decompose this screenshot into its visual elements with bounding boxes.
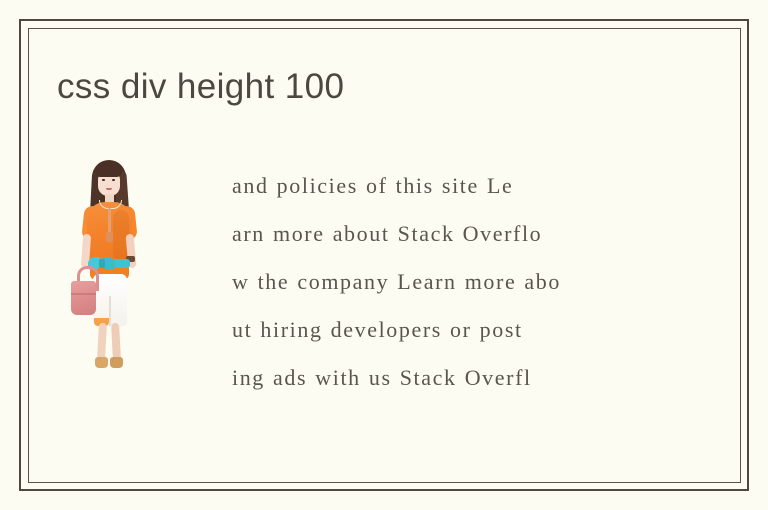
woman-figure-illustration (69, 158, 149, 373)
hair-fringe (96, 164, 122, 177)
body-text-line: ut hiring developers or post (232, 306, 657, 354)
right-wedge-sandal (110, 357, 123, 368)
body-text-line: arn more about Stack Overflo (232, 210, 657, 258)
page-canvas: css div height 100 (0, 0, 768, 510)
page-title: css div height 100 (57, 67, 344, 107)
body-text-line: ing ads with us Stack Overfl (232, 354, 657, 402)
right-eye (112, 179, 115, 181)
body-paragraph: and policies of this site Le arn more ab… (232, 162, 657, 402)
pink-handbag (71, 281, 96, 315)
body-text-line: and policies of this site Le (232, 162, 657, 210)
necklace-pendant (106, 232, 113, 242)
right-leg (111, 323, 121, 360)
body-text-line: w the company Learn more abo (232, 258, 657, 306)
handbag-seam (71, 293, 96, 295)
content-row: and policies of this site Le arn more ab… (57, 150, 657, 402)
left-eye (102, 179, 105, 181)
necklace-pendant-cord (108, 208, 111, 234)
belt-bow-knot (99, 259, 105, 268)
left-wedge-sandal (95, 357, 108, 368)
pants-leg-separation (109, 296, 111, 326)
woman-walking-photo (57, 150, 177, 375)
left-leg (97, 323, 107, 360)
